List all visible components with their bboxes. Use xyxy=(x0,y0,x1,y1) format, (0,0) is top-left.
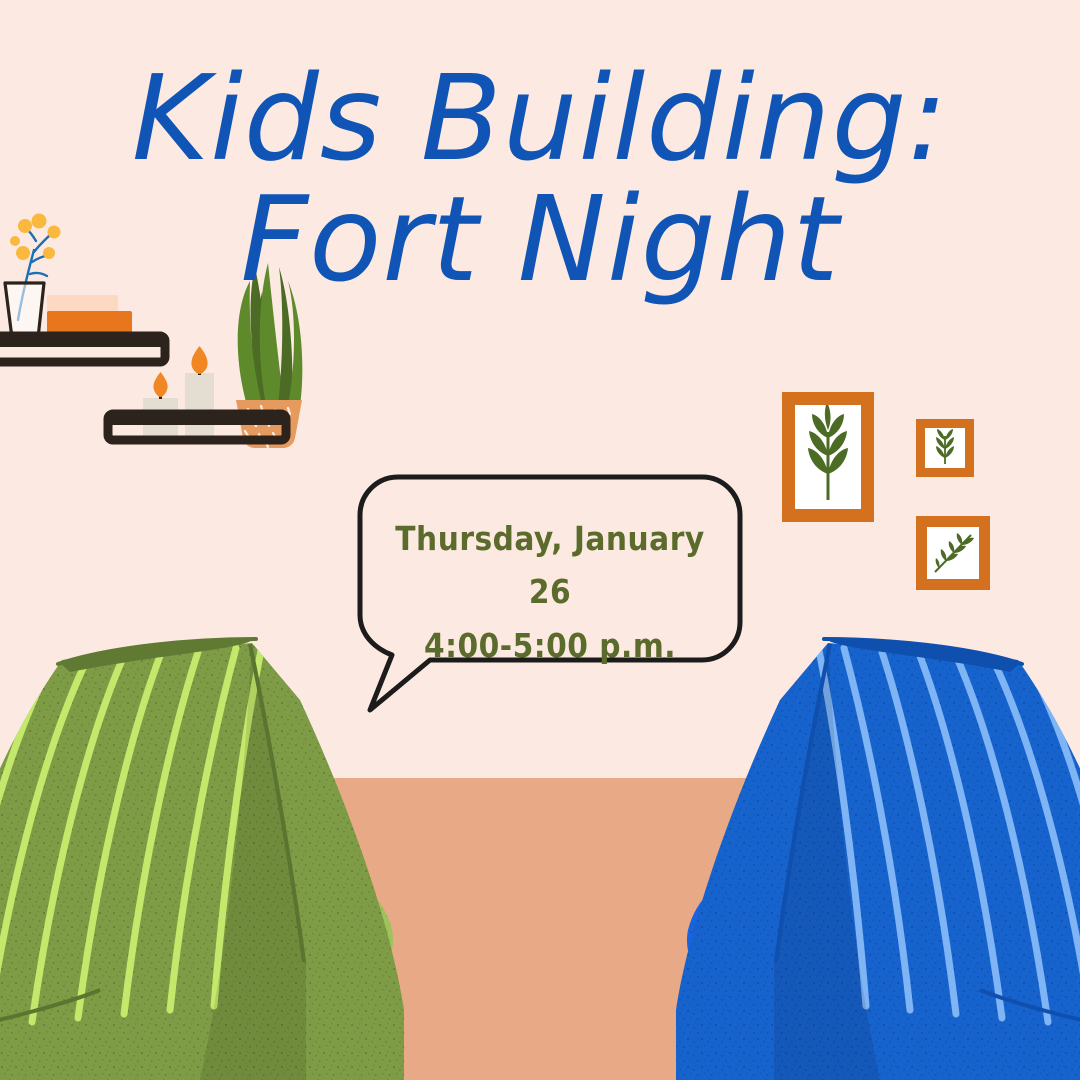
poster-canvas: Kids Building: Fort Night Thursday, Janu… xyxy=(0,0,1080,1080)
botanical-frame-large xyxy=(782,392,874,522)
vase xyxy=(5,283,44,338)
book-bottom xyxy=(47,311,132,334)
botanical-frame-small-top xyxy=(916,419,974,477)
event-date: Thursday, January 26 xyxy=(372,512,728,619)
book-top xyxy=(47,295,118,312)
event-time: 4:00-5:00 p.m. xyxy=(372,619,728,672)
event-details: Thursday, January 26 4:00-5:00 p.m. xyxy=(372,512,728,672)
botanical-frame-small-bottom xyxy=(916,516,990,590)
